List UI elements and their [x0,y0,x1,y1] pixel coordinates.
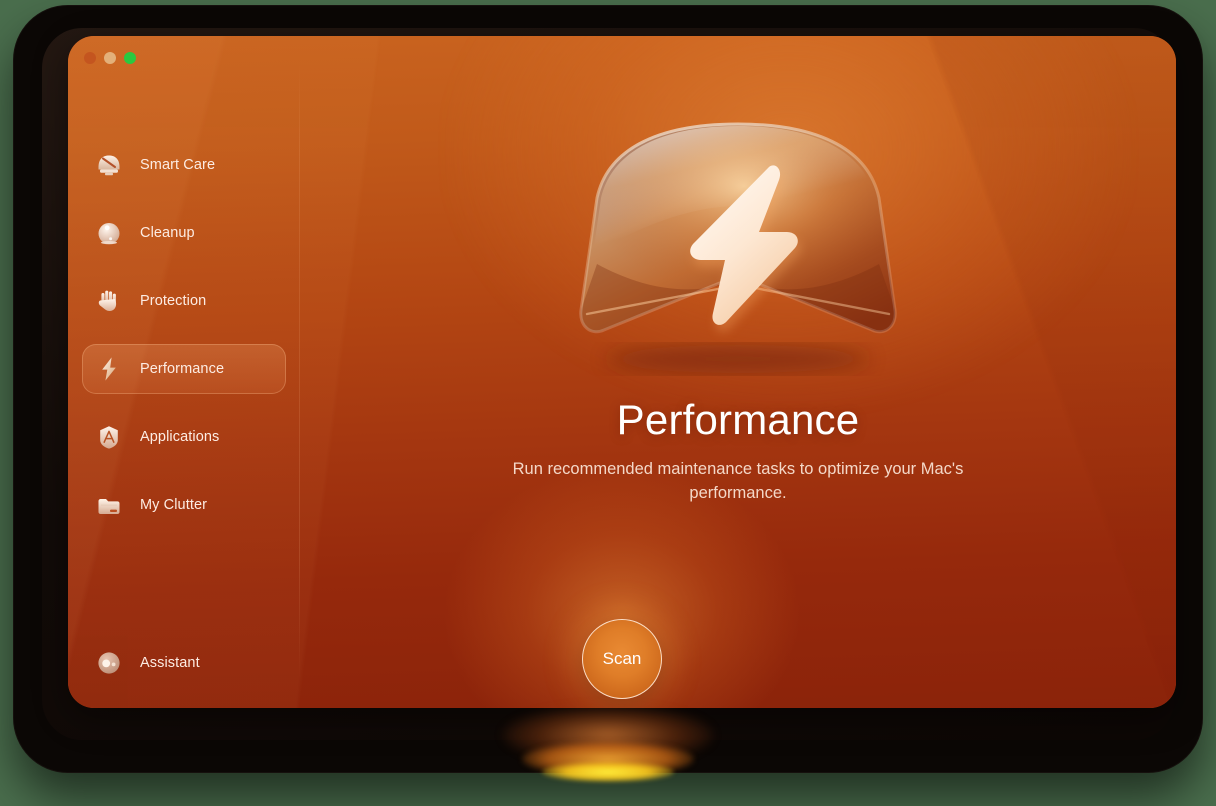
sidebar-item-protection[interactable]: Protection [82,276,286,326]
sidebar-item-performance[interactable]: Performance [82,344,286,394]
sidebar-item-cleanup[interactable]: Cleanup [82,208,286,258]
sidebar: Smart Care Clean [68,36,300,708]
scan-button-wrap: Scan [582,619,662,699]
scan-button[interactable]: Scan [582,619,662,699]
close-button[interactable] [84,52,96,64]
cleanup-icon [94,218,124,248]
sidebar-divider [299,64,300,680]
sidebar-item-label: Protection [140,293,206,309]
page-title: Performance [617,396,860,444]
sidebar-item-applications[interactable]: Applications [82,412,286,462]
window-controls [84,52,136,64]
sidebar-nav: Smart Care Clean [82,140,286,548]
device-bezel: Smart Care Clean [14,6,1202,772]
applications-icon [94,422,124,452]
main-content: Performance Run recommended maintenance … [300,36,1176,708]
sidebar-item-my-clutter[interactable]: My Clutter [82,480,286,530]
sidebar-item-assistant[interactable]: Assistant [82,638,286,688]
sidebar-item-label: Smart Care [140,157,215,173]
sidebar-footer: Assistant [82,638,286,688]
app-window: Smart Care Clean [68,36,1176,708]
my-clutter-icon [94,490,124,520]
performance-shield-bolt-icon [573,114,903,372]
maximize-button[interactable] [124,52,136,64]
protection-icon [94,286,124,316]
minimize-button[interactable] [104,52,116,64]
performance-icon [94,354,124,384]
page-subtitle: Run recommended maintenance tasks to opt… [508,458,968,506]
smart-care-icon [94,150,124,180]
sidebar-item-label: Cleanup [140,225,195,241]
sidebar-item-label: Performance [140,361,224,377]
assistant-icon [94,648,124,678]
sidebar-item-label: My Clutter [140,497,207,513]
sidebar-item-smart-care[interactable]: Smart Care [82,140,286,190]
sidebar-item-label: Applications [140,429,219,445]
sidebar-item-label: Assistant [140,655,200,671]
